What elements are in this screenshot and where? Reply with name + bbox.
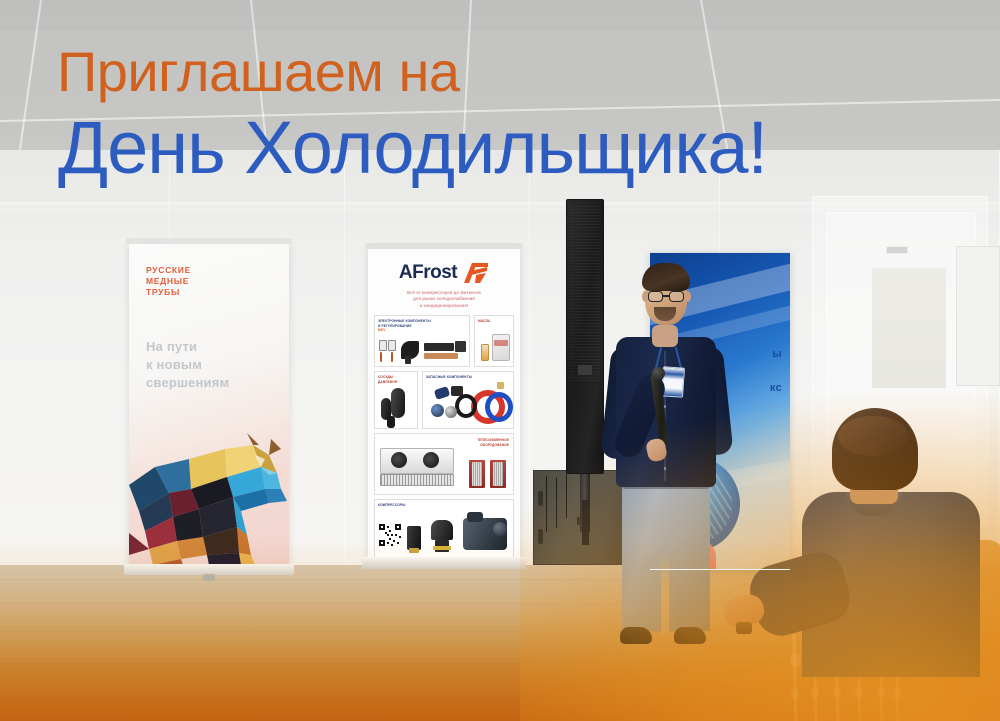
product-item-fins [380, 474, 454, 486]
afrost-logo-text: AFrost [399, 262, 457, 284]
product-item [431, 404, 444, 417]
microphone-head [652, 367, 665, 380]
banner-russian-copper-tubes: РУССКИЕ МЕДНЫЕ ТРУБЫ На пути к новым све… [129, 243, 289, 565]
product-item [434, 386, 450, 400]
product-item [391, 352, 393, 362]
product-item [481, 344, 489, 361]
section-title-line2: ОБОРУДОВАНИЕ [477, 443, 509, 447]
banner-afrost: AFrost Всё от компрессоров до фитингов д… [368, 248, 520, 558]
section-title-line1: ЭЛЕКТРОННЫЕ КОМПОНЕНТЫ [378, 319, 431, 323]
rmt-logo-line2: МЕДНЫЕ [146, 276, 191, 287]
product-item-plate [472, 462, 482, 486]
afrost-mark-icon [463, 262, 489, 284]
rmt-logo-line3: ТРУБЫ [146, 287, 191, 298]
afrost-section-electronics: ЭЛЕКТРОННЫЕ КОМПОНЕНТЫ И РЕГУЛИРОВАНИЕ M… [374, 315, 470, 367]
rmt-logo-line1: РУССКИЕ [146, 265, 191, 276]
section-title-line1: МАСЛА [478, 319, 490, 323]
banner-top-cap [365, 243, 523, 249]
banner-top-cap [650, 252, 790, 253]
product-item [424, 353, 458, 359]
afrost-tagline: Всё от компрессоров до фитингов для рынк… [374, 290, 514, 309]
afrost-grid-row: СОСУДЫ ДАВЛЕНИЯ ЗАПАСНЫЕ КОМПОНЕНТЫ [374, 371, 514, 429]
afrost-section-title: МАСЛА [478, 319, 490, 323]
product-item [497, 382, 504, 389]
product-label [494, 340, 508, 346]
afrost-section-title: ЗАПАСНЫЕ КОМПОНЕНТЫ [426, 375, 472, 379]
product-item [424, 343, 454, 351]
section-title-line3: MDV [378, 328, 431, 332]
speaker-grille [570, 204, 600, 381]
section-title-line1: КОМПРЕССОРЫ [378, 503, 406, 507]
product-item-plate [493, 462, 503, 486]
product-item [388, 340, 396, 351]
afrost-section-title: ТЕПЛООБМЕННОЕ ОБОРУДОВАНИЕ [477, 438, 509, 447]
product-item [405, 356, 411, 364]
eyeglasses-bridge [662, 295, 669, 297]
eyeglasses-icon [669, 291, 684, 302]
presenter-ear-right [684, 291, 691, 302]
presenter-neck [652, 325, 678, 347]
product-item [379, 340, 387, 351]
rmt-slogan-line3: свершениям [146, 374, 229, 392]
section-title-line2: ДАВЛЕНИЯ [378, 380, 397, 384]
door-handle [886, 246, 908, 254]
rmt-slogan-line2: к новым [146, 356, 229, 374]
section-title-line1: ТЕПЛООБМЕННОЕ [477, 438, 509, 442]
product-item [455, 341, 466, 352]
product-item [451, 386, 463, 396]
product-item-compressor [431, 520, 453, 540]
afrost-product-grid: ЭЛЕКТРОННЫЕ КОМПОНЕНТЫ И РЕГУЛИРОВАНИЕ M… [374, 315, 514, 561]
banner-top-cap [126, 238, 292, 244]
blue-banner-text-1: ы [772, 348, 782, 360]
orange-brand-overlay [520, 391, 1000, 721]
presenter-hair [642, 263, 690, 291]
afrost-section-title: ЭЛЕКТРОННЫЕ КОМПОНЕНТЫ И РЕГУЛИРОВАНИЕ M… [378, 319, 431, 332]
product-item [492, 334, 510, 361]
door-glass [872, 268, 946, 388]
section-title-line1: ЗАПАСНЫЕ КОМПОНЕНТЫ [426, 375, 472, 379]
product-item [445, 406, 457, 418]
afrost-section-oils: МАСЛА [474, 315, 514, 367]
product-item-blue-hose [485, 392, 513, 422]
afrost-section-spares: ЗАПАСНЫЕ КОМПОНЕНТЫ [422, 371, 514, 429]
afrost-tagline-line3: и кондиционирования! [382, 303, 506, 309]
wall-poster [956, 246, 1000, 386]
eyeglasses-icon [648, 291, 663, 302]
product-item [391, 388, 405, 418]
product-item [387, 416, 395, 428]
dome-shading [0, 0, 1000, 30]
afrost-grid-row: ЭЛЕКТРОННЫЕ КОМПОНЕНТЫ И РЕГУЛИРОВАНИЕ M… [374, 315, 514, 367]
banner-base [650, 569, 790, 570]
product-item [380, 352, 382, 362]
rmt-slogan: На пути к новым свершениям [146, 338, 229, 392]
product-item [467, 512, 483, 522]
speaker-brand-logo [578, 365, 592, 375]
afrost-section-title: КОМПРЕССОРЫ [378, 503, 406, 507]
afrost-logo: AFrost [374, 262, 514, 284]
dome-seam [0, 99, 1000, 122]
afrost-section-heat-exchangers: ТЕПЛООБМЕННОЕ ОБОРУДОВАНИЕ [374, 433, 514, 495]
afrost-section-vessels: СОСУДЫ ДАВЛЕНИЯ [374, 371, 418, 429]
promo-image: РУССКИЕ МЕДНЫЕ ТРУБЫ На пути к новым све… [0, 0, 1000, 721]
rmt-slogan-line1: На пути [146, 338, 229, 356]
afrost-grid-row: ТЕПЛООБМЕННОЕ ОБОРУДОВАНИЕ [374, 433, 514, 495]
afrost-section-title: СОСУДЫ ДАВЛЕНИЯ [378, 375, 397, 384]
rmt-logo: РУССКИЕ МЕДНЫЕ ТРУБЫ [146, 265, 191, 298]
